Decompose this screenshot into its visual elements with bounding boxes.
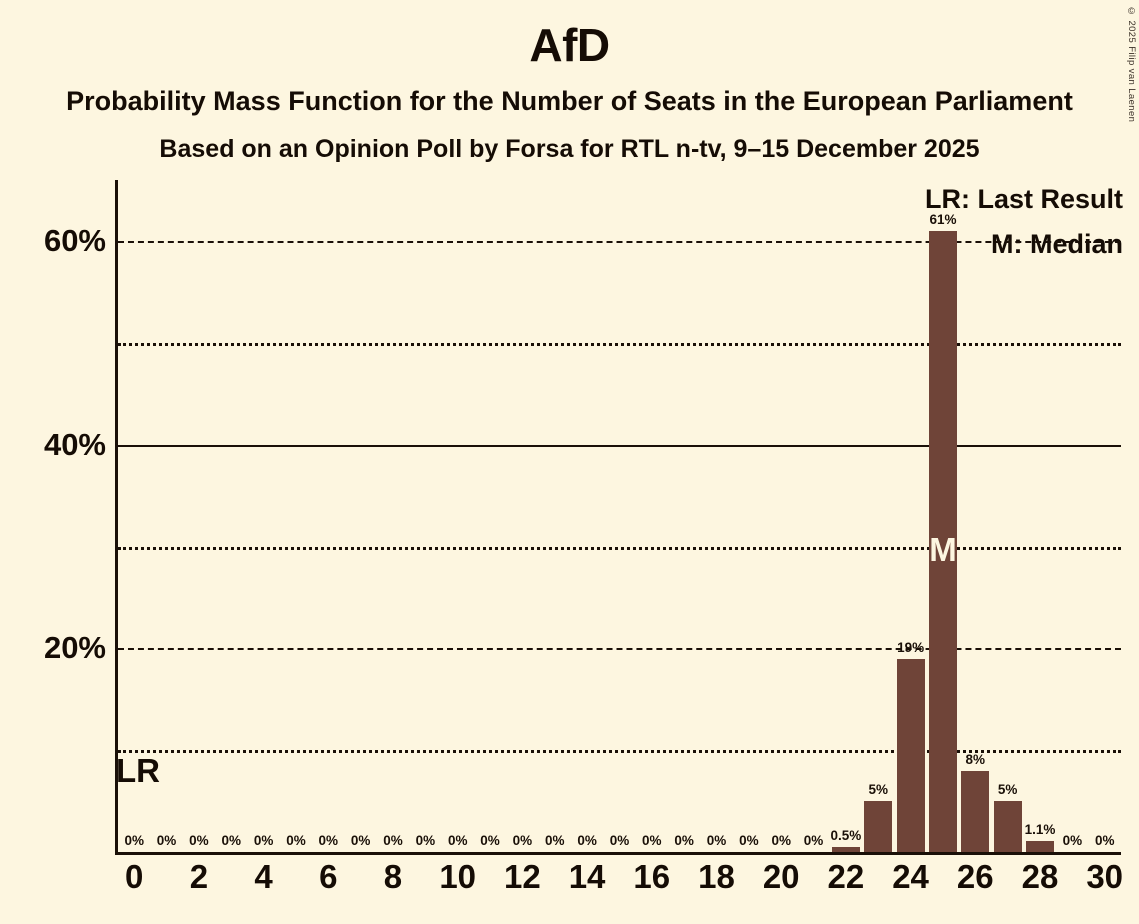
bar-slot: 0% <box>571 180 603 852</box>
bar-slot: 0% <box>442 180 474 852</box>
x-tick-30: 30 <box>1070 858 1139 896</box>
bar-slot: 0% <box>1056 180 1088 852</box>
x-tick-8: 8 <box>358 858 428 896</box>
bar-slot: 1.1% <box>1024 180 1056 852</box>
chart-subtitle: Probability Mass Function for the Number… <box>0 86 1139 117</box>
bar-slot: 0.5% <box>830 180 862 852</box>
bar-slot: 0% <box>539 180 571 852</box>
x-tick-16: 16 <box>617 858 687 896</box>
x-tick-24: 24 <box>876 858 946 896</box>
x-tick-2: 2 <box>164 858 234 896</box>
bar[interactable] <box>897 659 925 852</box>
bar-slot: 0% <box>280 180 312 852</box>
x-tick-18: 18 <box>681 858 751 896</box>
bar-slot: 0% <box>247 180 279 852</box>
x-tick-10: 10 <box>423 858 493 896</box>
y-tick-40%: 40% <box>6 427 106 463</box>
x-tick-12: 12 <box>487 858 557 896</box>
last-result-marker: LR <box>116 754 160 787</box>
bar[interactable] <box>864 801 892 852</box>
bar-slot: 0% <box>603 180 635 852</box>
x-tick-20: 20 <box>746 858 816 896</box>
plot-area: 20%40%60% 0%0%0%0%0%0%0%0%0%0%0%0%0%0%0%… <box>118 180 1121 852</box>
median-marker: M <box>929 533 957 566</box>
bar-slot: 0% <box>765 180 797 852</box>
bar-slot: 0% <box>312 180 344 852</box>
bar-slot: 19% <box>894 180 926 852</box>
bar-slot: 0% <box>377 180 409 852</box>
bar[interactable] <box>832 847 860 852</box>
bar-slot: 0% <box>733 180 765 852</box>
bar-slot: 0% <box>409 180 441 852</box>
bar-slot: 8% <box>959 180 991 852</box>
bar-slot: 0% <box>700 180 732 852</box>
x-tick-0: 0 <box>99 858 169 896</box>
bar-slot: 0% <box>797 180 829 852</box>
x-tick-28: 28 <box>1005 858 1075 896</box>
chart-page: AfD Probability Mass Function for the Nu… <box>0 0 1139 924</box>
chart-source-line: Based on an Opinion Poll by Forsa for RT… <box>0 135 1139 164</box>
y-tick-60%: 60% <box>6 223 106 259</box>
bar-slot: 0% <box>183 180 215 852</box>
bar-slot: 0% <box>344 180 376 852</box>
bar-slot: 0% <box>474 180 506 852</box>
bar-slot: 0% <box>636 180 668 852</box>
x-tick-22: 22 <box>811 858 881 896</box>
x-tick-14: 14 <box>552 858 622 896</box>
copyright-notice: © 2025 Filip van Laenen <box>1126 6 1137 122</box>
bar-slot: 0% <box>668 180 700 852</box>
x-axis <box>115 852 1121 855</box>
bar-value-label: 0% <box>1075 833 1135 848</box>
bar-slot: 0% <box>506 180 538 852</box>
x-tick-6: 6 <box>293 858 363 896</box>
page-title: AfD <box>0 18 1139 72</box>
x-tick-4: 4 <box>229 858 299 896</box>
bar-slot: 0% <box>1089 180 1121 852</box>
bar-slot: 0% <box>215 180 247 852</box>
x-tick-26: 26 <box>940 858 1010 896</box>
bar-slot: 5% <box>991 180 1023 852</box>
bar-slot: 5% <box>862 180 894 852</box>
y-tick-20%: 20% <box>6 630 106 666</box>
